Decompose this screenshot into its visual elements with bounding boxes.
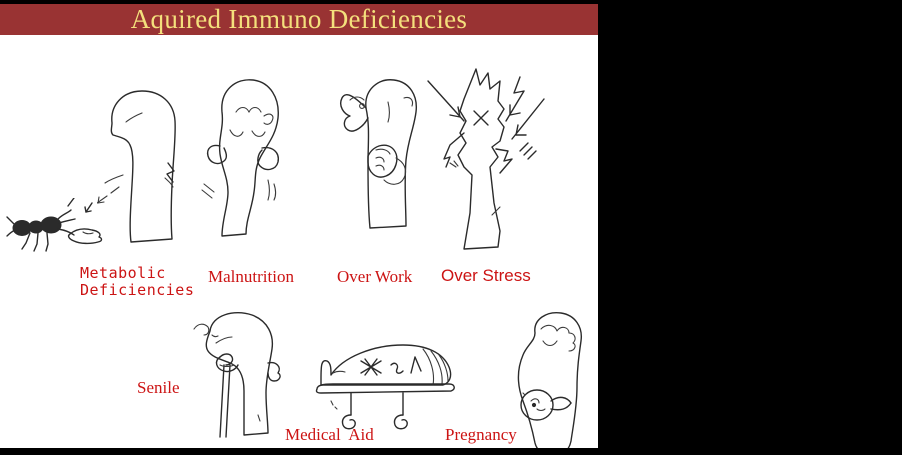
- figure-label-pregnancy: Pregnancy: [445, 425, 517, 444]
- page-title: Aquired Immuno Deficiencies: [131, 5, 468, 34]
- title-banner: Aquired Immuno Deficiencies: [0, 4, 598, 35]
- figure-label-metabolic-deficiencies: Metabolic Deficiencies: [80, 265, 194, 299]
- figure-label-senile: Senile: [137, 378, 180, 397]
- patient-on-gurney-figure: [303, 327, 458, 435]
- figure-label-medical-aid: Medical Aid: [285, 425, 374, 444]
- thin-emaciated-person-figure: [200, 68, 304, 260]
- figure-label-over-work: Over Work: [337, 267, 412, 286]
- person-with-raised-arm-figure: [326, 68, 426, 258]
- figure-label-malnutrition: Malnutrition: [208, 267, 294, 286]
- slide-canvas: Aquired Immuno Deficiencies: [0, 4, 598, 448]
- jagged-person-struck-by-arrows-figure: [420, 63, 560, 263]
- figure-label-over-stress: Over Stress: [441, 266, 531, 285]
- hunched-elderly-person-with-cane-figure: [190, 305, 290, 445]
- hunched-person-with-ant-figure: [97, 75, 205, 260]
- figure-area: Metabolic Deficiencies Malnutrition Over…: [0, 35, 598, 448]
- slide-root: Aquired Immuno Deficiencies: [0, 0, 902, 455]
